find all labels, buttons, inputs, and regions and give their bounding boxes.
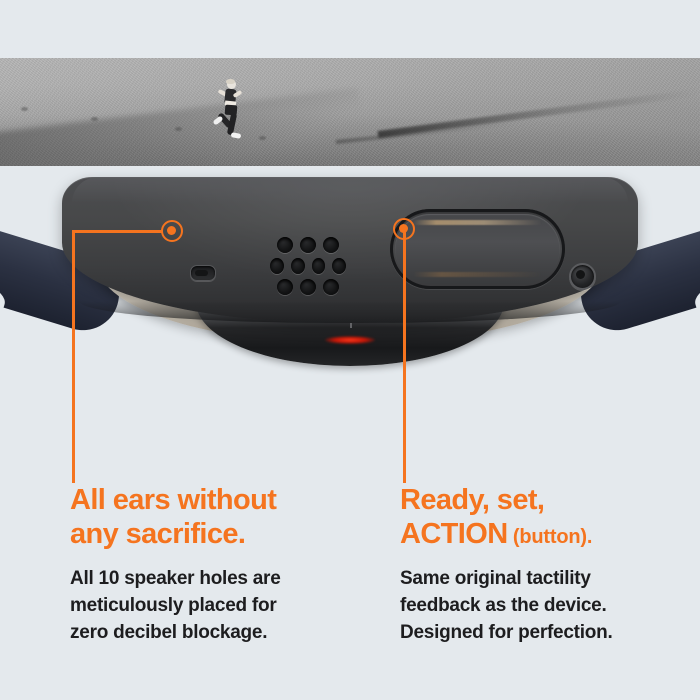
speaker-hole <box>291 258 305 274</box>
body-copy-speaker: All 10 speaker holes are meticulously pl… <box>70 566 350 647</box>
speaker-grille <box>270 237 346 301</box>
runner-front-shoe <box>231 132 242 139</box>
speaker-hole-row <box>270 258 346 274</box>
speaker-hole <box>300 279 316 295</box>
footprint-mark <box>259 136 266 140</box>
microphone-slot-inner <box>195 270 208 276</box>
headline-action-button-line-1: Ready, set, <box>400 484 544 516</box>
body-copy-action-button: Same original tactility feedback as the … <box>400 566 680 647</box>
runner-hair <box>226 79 235 84</box>
action-button[interactable] <box>390 209 565 289</box>
product-feature-panel: All ears without any sacrifice. All 10 s… <box>0 0 700 700</box>
body-copy-action-button-line-1: Same original tactility <box>400 568 591 589</box>
headline-speaker-line-2: any sacrifice. <box>70 518 245 550</box>
feature-text-action-button: Ready, set, ACTION (button). Same origin… <box>400 484 680 647</box>
protective-case <box>62 177 638 323</box>
speaker-hole <box>323 279 339 295</box>
round-port-inner <box>576 270 585 279</box>
callout-dot-action-button[interactable] <box>393 218 415 240</box>
speaker-hole <box>277 237 293 253</box>
headline-action-button: Ready, set, ACTION (button). <box>400 484 680 551</box>
action-button-top-gloss <box>413 220 542 225</box>
speaker-hole <box>323 237 339 253</box>
callout-leader-action-button-vertical <box>403 229 406 483</box>
speaker-hole-row <box>270 279 346 295</box>
speaker-hole <box>277 279 293 295</box>
sensor-red-glow <box>325 336 374 344</box>
round-port <box>569 263 596 290</box>
speaker-hole <box>312 258 326 274</box>
action-button-face <box>395 214 560 284</box>
microphone-slot <box>190 265 216 281</box>
case-bottom-lip <box>79 301 620 323</box>
headline-speaker: All ears without any sacrifice. <box>70 484 350 551</box>
callout-dot-speaker[interactable] <box>161 220 183 242</box>
body-copy-action-button-line-3: Designed for perfection. <box>400 622 613 643</box>
speaker-hole <box>332 258 346 274</box>
headline-action-button-suffix: (button). <box>508 526 593 548</box>
speaker-hole <box>300 237 316 253</box>
body-copy-action-button-line-2: feedback as the device. <box>400 595 607 616</box>
footprint-mark <box>21 107 28 111</box>
runner-figure <box>213 80 247 146</box>
speaker-hole <box>270 258 284 274</box>
callout-leader-speaker-horizontal <box>72 230 163 233</box>
action-button-bottom-gloss <box>413 272 542 277</box>
speaker-hole-row <box>270 237 346 253</box>
runner-back-shoe <box>213 115 224 125</box>
watch-product-assembly <box>0 150 700 370</box>
body-copy-speaker-line-3: zero decibel blockage. <box>70 622 267 643</box>
feature-text-speaker: All ears without any sacrifice. All 10 s… <box>70 484 350 647</box>
headline-speaker-line-1: All ears without <box>70 484 276 516</box>
callout-leader-speaker-vertical <box>72 230 75 483</box>
case-top-edge <box>72 177 628 203</box>
headline-action-button-line-2: ACTION <box>400 518 508 550</box>
body-copy-speaker-line-2: meticulously placed for <box>70 595 276 616</box>
body-copy-speaker-line-1: All 10 speaker holes are <box>70 568 281 589</box>
